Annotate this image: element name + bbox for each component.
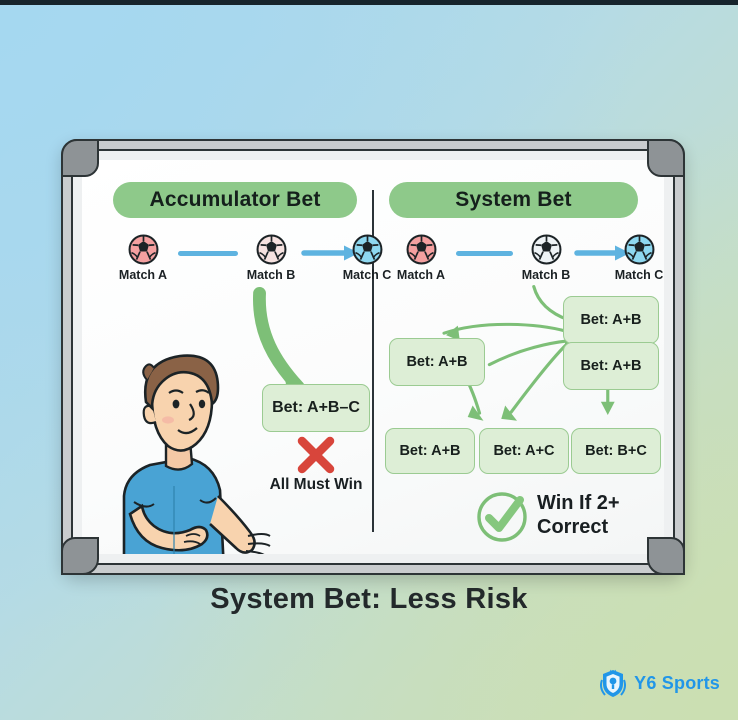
match-item-a: Match A: [110, 234, 176, 282]
soccer-ball-icon: [128, 234, 159, 265]
bet-box-sys-bottom-ab[interactable]: Bet: A+B: [385, 428, 475, 474]
shield-crest-icon: [599, 668, 627, 698]
bet-box-sys-mid-right[interactable]: Bet: A+B: [563, 342, 659, 390]
caption-win-line2: Correct: [537, 516, 664, 540]
match-item-b: Match B: [513, 234, 579, 282]
panel-title-accumulator: Accumulator Bet: [113, 182, 357, 218]
board-corner-top-left: [61, 139, 99, 177]
match-row-system: Match A Match B: [373, 234, 664, 296]
bet-box-sys-top-right[interactable]: Bet: A+B: [563, 296, 659, 344]
bet-box-sys-bottom-bc[interactable]: Bet: B+C: [571, 428, 661, 474]
red-cross-icon: [296, 436, 336, 474]
brand-name: Y6 Sports: [634, 673, 720, 694]
panel-accumulator: Accumulator Bet Match A: [82, 160, 373, 554]
soccer-ball-icon: [406, 234, 437, 265]
match-row-accumulator: Match A Match B: [82, 234, 373, 296]
match-label-b: Match B: [513, 268, 579, 282]
panel-title-system: System Bet: [389, 182, 638, 218]
brand-logo[interactable]: Y6 Sports: [599, 668, 720, 698]
board-corner-bottom-right: [647, 537, 685, 575]
infographic-canvas: Accumulator Bet Match A: [0, 0, 738, 720]
match-label-a: Match A: [110, 268, 176, 282]
bet-box-sys-mid-left[interactable]: Bet: A+B: [389, 338, 485, 386]
green-check-circle-icon: [475, 490, 529, 544]
caption-win-if-correct: Win If 2+ Correct: [537, 492, 664, 539]
board-corner-top-right: [647, 139, 685, 177]
soccer-ball-icon: [624, 234, 655, 265]
match-label-c: Match C: [606, 268, 664, 282]
connector-line-a-b: [456, 251, 513, 256]
whiteboard: Accumulator Bet Match A: [61, 139, 685, 575]
match-item-a: Match A: [388, 234, 454, 282]
match-item-b: Match B: [238, 234, 304, 282]
bet-box-accumulator[interactable]: Bet: A+B–C: [262, 384, 370, 432]
board-corner-bottom-left: [61, 537, 99, 575]
match-label-a: Match A: [388, 268, 454, 282]
connector-line-a-b: [178, 251, 238, 256]
soccer-ball-icon: [256, 234, 287, 265]
whiteboard-rim: Accumulator Bet Match A: [71, 149, 675, 565]
match-item-c: Match C: [606, 234, 664, 282]
top-edge-strip: [0, 0, 738, 5]
bet-box-sys-bottom-ac[interactable]: Bet: A+C: [479, 428, 569, 474]
soccer-ball-icon: [531, 234, 562, 265]
match-label-b: Match B: [238, 268, 304, 282]
caption-all-must-win: All Must Win: [242, 476, 390, 494]
caption-win-line1: Win If 2+: [537, 492, 664, 516]
panel-system: System Bet Match A: [373, 160, 664, 554]
person-presenting-illustration: [90, 346, 275, 554]
footer-title: System Bet: Less Risk: [0, 583, 738, 616]
whiteboard-surface: Accumulator Bet Match A: [82, 160, 664, 554]
